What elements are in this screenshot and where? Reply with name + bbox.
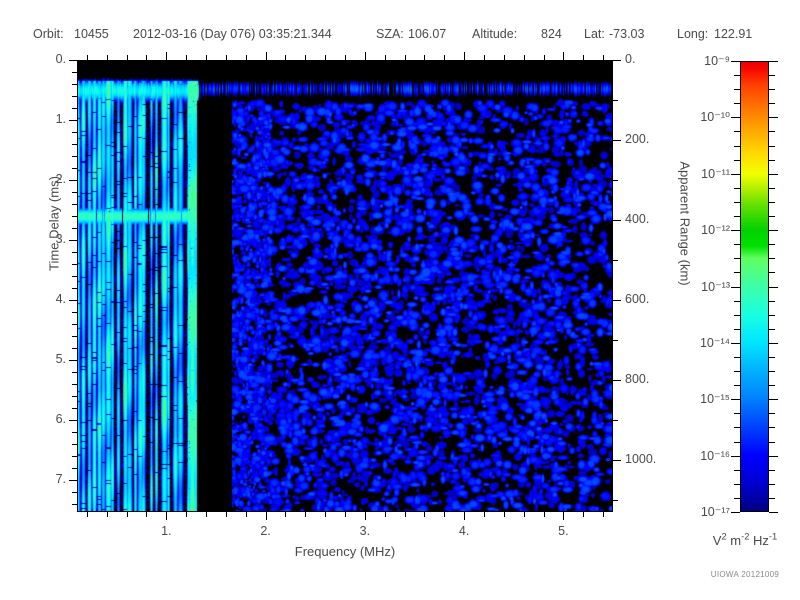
colorbar-tick-label-9: 10⁻⁹ (676, 53, 730, 68)
orbit-label: Orbit: (33, 27, 64, 41)
lat-label: Lat: (584, 27, 605, 41)
y2-tick-label-0: 0. (625, 52, 635, 66)
colorbar-tick-label-16: 10⁻¹⁶ (676, 448, 730, 463)
observation-datetime: 2012-03-16 (Day 076) 03:35:21.344 (133, 27, 332, 41)
x-tick-label-4: 4. (444, 524, 484, 538)
colorbar-tick-label-12: 10⁻¹² (676, 222, 730, 237)
header-metadata: Orbit: 10455 2012-03-16 (Day 076) 03:35:… (0, 27, 800, 47)
colorbar (740, 61, 769, 512)
y-tick-label-7: 7. (34, 472, 66, 486)
ionogram-spectrogram (77, 60, 613, 512)
y-tick-label-0: 0. (34, 52, 66, 66)
x-axis-title: Frequency (MHz) (77, 544, 613, 559)
long-label: Long: (677, 27, 708, 41)
x-tick-label-2: 2. (246, 524, 286, 538)
altitude-label: Altitude: (472, 27, 517, 41)
colorbar-tick-label-10: 10⁻¹⁰ (676, 109, 730, 124)
y2-tick-label-600: 600. (625, 292, 649, 306)
colorbar-tick-label-11: 10⁻¹¹ (676, 166, 730, 181)
y-tick-label-6: 6. (34, 412, 66, 426)
x-tick-label-3: 3. (345, 524, 385, 538)
y2-tick-label-400: 400. (625, 212, 649, 226)
y2-tick-label-200: 200. (625, 132, 649, 146)
colorbar-tick-label-17: 10⁻¹⁷ (676, 504, 730, 519)
colorbar-tick-label-15: 10⁻¹⁵ (676, 391, 730, 406)
spectrogram-canvas (77, 60, 613, 512)
ionogram-figure: Orbit: 10455 2012-03-16 (Day 076) 03:35:… (0, 0, 800, 600)
colorbar-tick-label-13: 10⁻¹³ (676, 279, 730, 294)
y-tick-label-1: 1. (34, 112, 66, 126)
x-tick-label-1: 1. (146, 524, 186, 538)
orbit-value: 10455 (74, 27, 109, 41)
y-axis-title: Time Delay (ms) (47, 144, 62, 304)
colorbar-tick-label-14: 10⁻¹⁴ (676, 335, 730, 350)
sza-label: SZA: (376, 27, 404, 41)
y2-tick-label-800: 800. (625, 372, 649, 386)
x-tick-label-5: 5. (543, 524, 583, 538)
y-tick-label-5: 5. (34, 352, 66, 366)
long-value: 122.91 (714, 27, 752, 41)
sza-value: 106.07 (408, 27, 446, 41)
lat-value: -73.03 (609, 27, 644, 41)
y2-tick-label-1000: 1000. (625, 452, 656, 466)
colorbar-unit-label: V2 m-2 Hz-1 (690, 533, 800, 548)
credit-text: UIOWA 20121009 (690, 570, 800, 579)
altitude-value: 824 (541, 27, 562, 41)
